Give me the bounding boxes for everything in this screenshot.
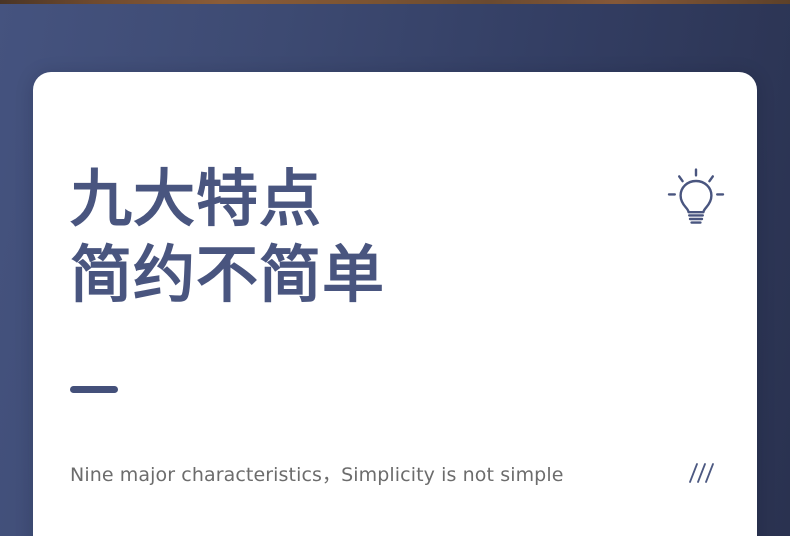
poster-canvas: 九大特点 简约不简单 Nine major characteristics，: [0, 0, 790, 536]
content-card: 九大特点 简约不简单 Nine major characteristics，: [33, 72, 757, 536]
title-divider: [70, 386, 118, 393]
slashes-decoration-icon: [683, 460, 717, 486]
lightbulb-icon: [667, 168, 725, 230]
page-title-line-2: 简约不简单: [70, 238, 385, 314]
page-subtitle: Nine major characteristics，Simplicity is…: [70, 462, 564, 488]
card-inner: 九大特点 简约不简单 Nine major characteristics，: [33, 72, 757, 536]
top-accent-strip: [0, 0, 790, 4]
page-title-line-1: 九大特点: [70, 162, 385, 238]
page-title: 九大特点 简约不简单: [70, 162, 385, 314]
